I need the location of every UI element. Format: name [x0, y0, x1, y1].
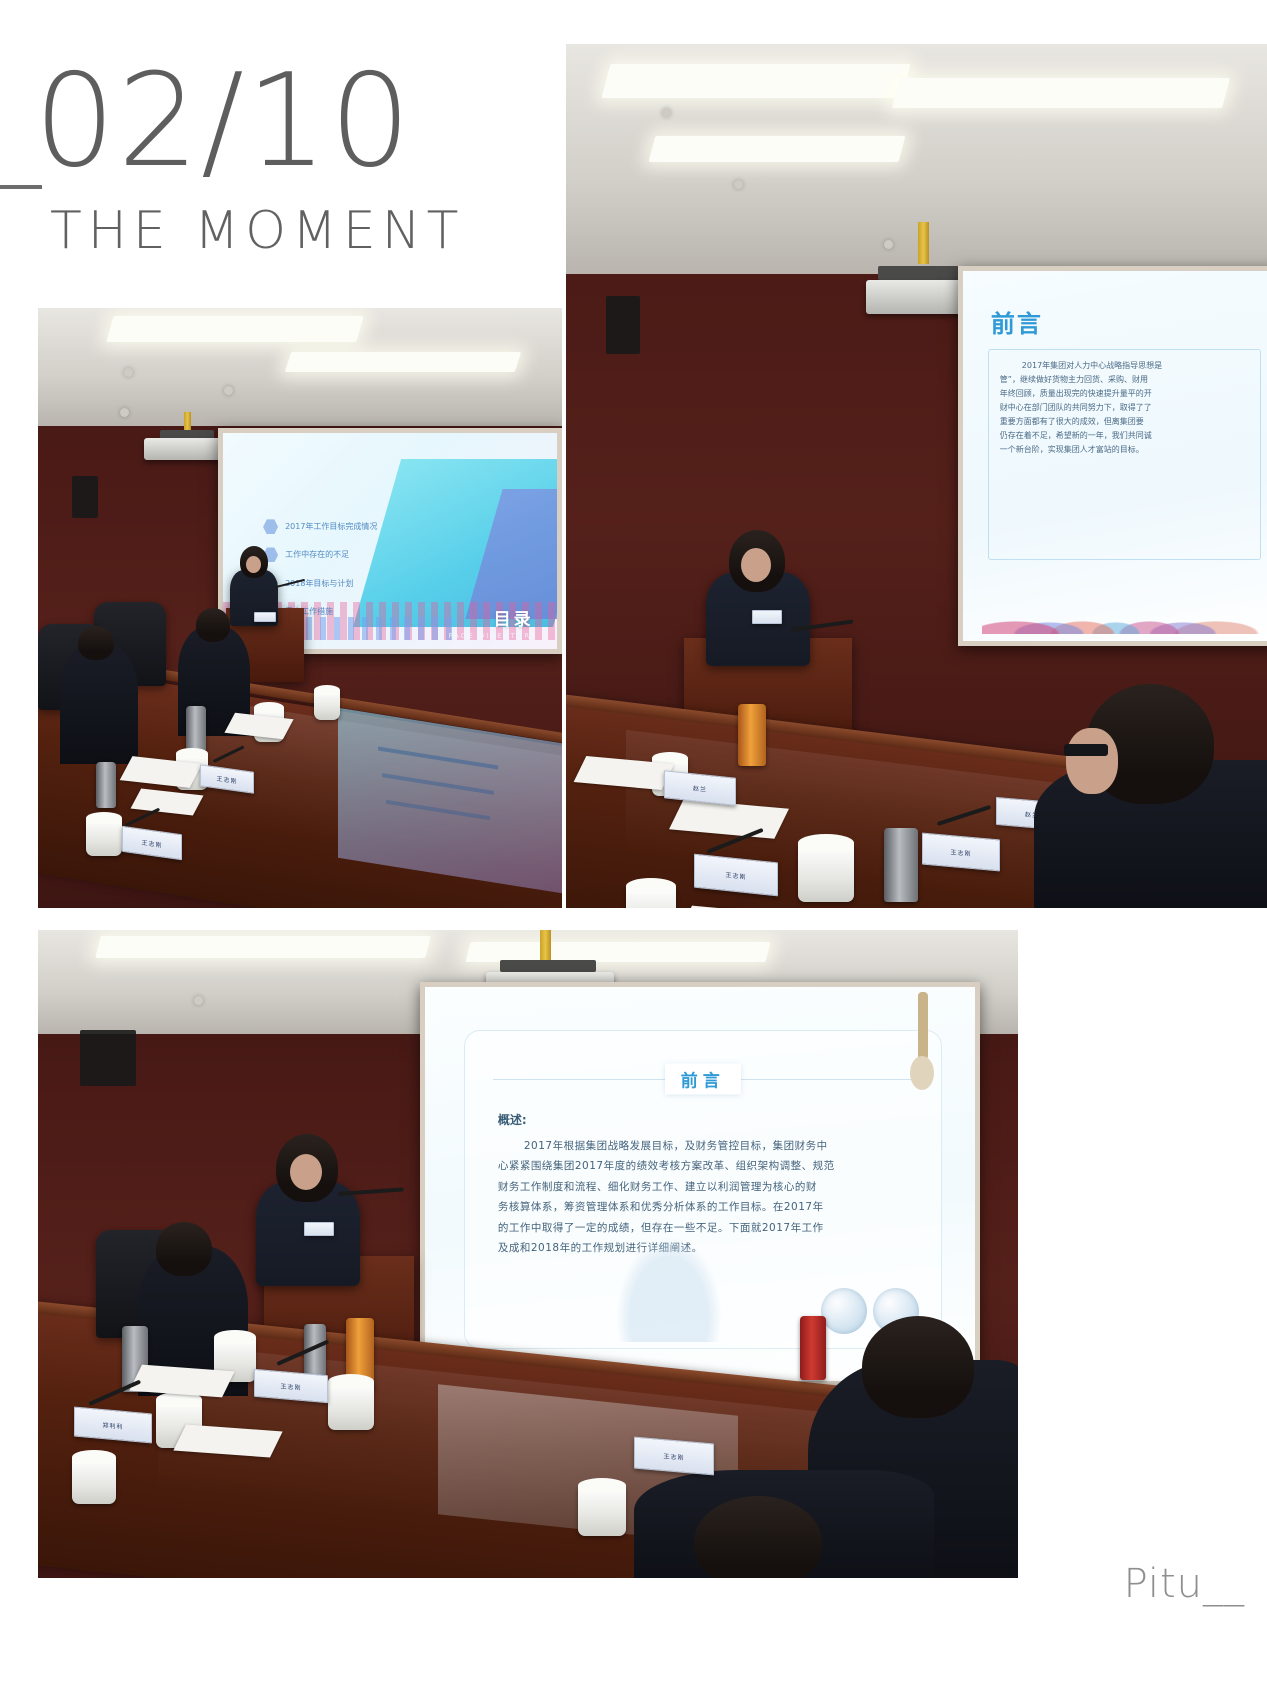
- photo-top-left: 2017年工作目标完成情况 工作中存在的不足 2018年目标与计划 重: [38, 308, 562, 908]
- wall-hanging-ornament: [910, 1056, 934, 1090]
- thermos-flask: [884, 828, 918, 902]
- toc-item-label: 工作中存在的不足: [285, 549, 349, 560]
- slide-body-line: 心紧紧围绕集团2017年度的绩效考核方案改革、组织架构调整、规范: [498, 1156, 908, 1176]
- tea-cup: [578, 1486, 626, 1536]
- projection-screen: 前言 2017年集团对人力中心战略指导思想是 管”，继续做好货物主力回货、采购、…: [963, 271, 1267, 641]
- ceiling-spotlight: [662, 108, 671, 117]
- tea-cup-lid: [314, 685, 340, 695]
- ceiling-spotlight: [734, 180, 743, 189]
- slide-crowd-graphic: [982, 563, 1261, 633]
- name-placard-label: 王志刚: [280, 1381, 301, 1392]
- ceiling-light: [106, 316, 363, 342]
- name-placard-label: 王志刚: [663, 1451, 684, 1462]
- toc-item: 工作中存在的不足: [263, 547, 349, 562]
- ceiling-light: [649, 136, 906, 162]
- collage-page: 02/10 THE MOMENT: [0, 0, 1267, 1689]
- presenter-badge: [752, 610, 782, 624]
- slide-title: 目录: [494, 605, 534, 630]
- wall-hanging-cord: [918, 992, 928, 1060]
- tea-cup-lid: [176, 748, 208, 759]
- slide-subtitle: PAGE DIRECTORY: [448, 632, 537, 640]
- page-counter: 02/10: [34, 58, 413, 186]
- presenter-badge: [254, 612, 276, 622]
- attendee-head: [78, 626, 114, 660]
- header-block: 02/10 THE MOMENT: [0, 0, 560, 300]
- tea-cup-lid: [86, 812, 122, 824]
- ceiling-light: [285, 352, 521, 372]
- projector-icon: [144, 438, 222, 460]
- attendee-head: [694, 1496, 822, 1578]
- page-title: THE MOMENT: [50, 205, 464, 257]
- toc-item: 2017年工作目标完成情况: [263, 519, 377, 534]
- slide-body-line: 年终回顾，质量出现完的快速提升量平的开: [1000, 387, 1249, 401]
- slide-body-line: 财务工作制度和流程、细化财务工作、建立以利润管理为核心的财: [498, 1177, 908, 1197]
- name-placard-label: 王志刚: [725, 869, 746, 880]
- slide-body-line: 重要方面都有了很大的成效，但离集团要: [1000, 415, 1249, 429]
- tea-cup-lid: [798, 834, 854, 852]
- name-placard-label: 王志刚: [216, 773, 237, 785]
- slide-section-heading: 概述:: [498, 1111, 527, 1128]
- ceiling-spotlight: [224, 386, 233, 395]
- ceiling-spotlight: [120, 408, 129, 417]
- name-placard-label: 赵兰: [693, 783, 707, 793]
- tea-cup-lid: [328, 1374, 374, 1389]
- presenter-badge: [304, 1222, 334, 1236]
- slide-body-line: 一个新台阶，实现集团人才富站的目标。: [1000, 443, 1249, 457]
- projector-mount: [878, 266, 964, 280]
- slide-watermark-graphic: [607, 1222, 731, 1343]
- slide-body-line: 2017年根据集团战略发展目标，及财务管控目标，集团财务中: [498, 1136, 908, 1156]
- ceiling-light: [95, 936, 430, 958]
- thermos-flask-orange: [738, 704, 766, 766]
- presenter-face: [246, 556, 261, 573]
- slide-body-line: 务核算体系，筹资管理体系和优秀分析体系的工作目标。在2017年: [498, 1197, 908, 1217]
- name-placard-label: 王志刚: [141, 837, 162, 849]
- presenter-face: [741, 548, 771, 582]
- projector-pole: [540, 930, 551, 962]
- slide-preface: 前言 2017年集团对人力中心战略指导思想是 管”，继续做好货物主力回货、采购、…: [963, 271, 1267, 641]
- slide-body-line: 2017年集团对人力中心战略指导思想是: [1000, 359, 1249, 373]
- slide-coin-graphic: [821, 1288, 867, 1334]
- thermos-flask-red: [800, 1316, 826, 1380]
- tea-cup-lid: [214, 1330, 256, 1344]
- projector-mount: [500, 960, 596, 972]
- slide-body-line: 财中心在部门团队的共同努力下，取得了了: [1000, 401, 1249, 415]
- ceiling-spotlight: [124, 368, 133, 377]
- ceiling-spotlight: [194, 996, 203, 1005]
- slide-text-box: 2017年集团对人力中心战略指导思想是 管”，继续做好货物主力回货、采购、财用 …: [988, 349, 1261, 560]
- slide-title: 前言: [665, 1063, 741, 1094]
- tea-cup-lid: [72, 1450, 116, 1464]
- attendee-head: [156, 1222, 212, 1276]
- ceiling-light: [466, 942, 771, 962]
- tea-cup: [798, 844, 854, 902]
- ceiling-light: [601, 64, 910, 98]
- wall-speaker: [80, 1030, 136, 1086]
- attendee-head: [196, 608, 230, 642]
- presenter-face: [290, 1154, 322, 1190]
- toc-item-label: 2017年工作目标完成情况: [285, 521, 377, 532]
- tea-cup-lid: [626, 878, 676, 894]
- slide-body-line: 仍存在着不足，希望新的一年，我们共同诚: [1000, 429, 1249, 443]
- tea-cup-lid: [254, 702, 284, 713]
- name-placard: 王志刚: [922, 833, 1000, 872]
- hexagon-bullet-icon: [263, 519, 278, 534]
- slide-body-line: 管”，继续做好货物主力回货、采购、财用: [1000, 373, 1249, 387]
- meeting-scene: 2017年工作目标完成情况 工作中存在的不足 2018年目标与计划 重: [38, 308, 562, 908]
- tea-cup: [328, 1382, 374, 1430]
- photo-bottom: 前言 概述: 2017年根据集团战略发展目标，及财务管控目标，集团财务中 心紧紧…: [38, 930, 1018, 1578]
- thermos-flask: [186, 706, 206, 752]
- meeting-scene: 前言 概述: 2017年根据集团战略发展目标，及财务管控目标，集团财务中 心紧紧…: [38, 930, 1018, 1578]
- projector-pole: [918, 222, 929, 264]
- tea-cup-lid: [578, 1478, 626, 1493]
- slide-title: 前言: [991, 304, 1043, 339]
- ceiling-light: [892, 78, 1230, 108]
- photo-top-right: 前言 2017年集团对人力中心战略指导思想是 管”，继续做好货物主力回货、采购、…: [566, 44, 1267, 908]
- attendee-face: [1066, 728, 1118, 794]
- wall-speaker: [606, 296, 640, 354]
- tea-cup: [72, 1458, 116, 1504]
- app-watermark: Pitu__: [1124, 1561, 1245, 1607]
- ceiling-spotlight: [884, 240, 893, 249]
- attendee: [60, 644, 138, 764]
- slide-card: 前言 概述: 2017年根据集团战略发展目标，及财务管控目标，集团财务中 心紧紧…: [464, 1030, 943, 1349]
- eyeglasses-icon: [1064, 744, 1108, 756]
- thermos-flask: [96, 762, 116, 808]
- wall-speaker: [72, 476, 98, 518]
- name-placard-label: 郑利利: [102, 1420, 123, 1431]
- meeting-scene: 前言 2017年集团对人力中心战略指导思想是 管”，继续做好货物主力回货、采购、…: [566, 44, 1267, 908]
- name-placard-label: 王志刚: [950, 847, 971, 858]
- attendee-head: [862, 1316, 974, 1418]
